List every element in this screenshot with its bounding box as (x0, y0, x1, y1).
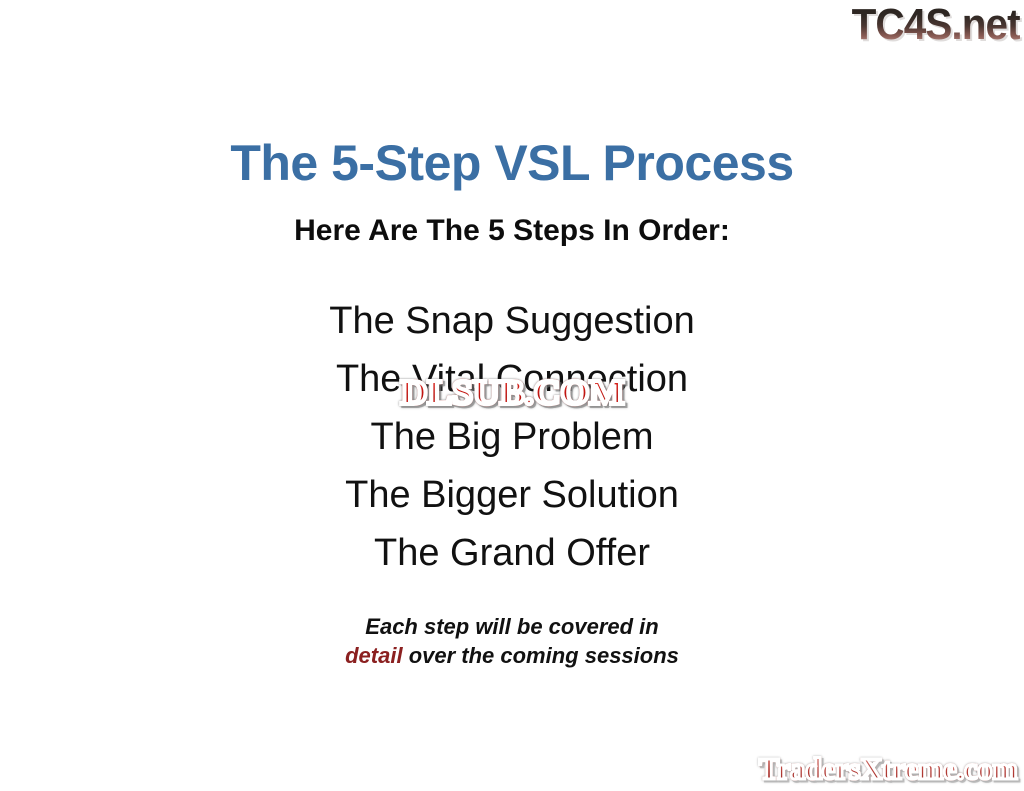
steps-list: The Snap Suggestion The Vital Connection… (0, 292, 1024, 582)
closing-note-line-2: detail over the coming sessions (0, 641, 1024, 670)
list-item: The Vital Connection (0, 350, 1024, 408)
closing-note-line-1: Each step will be covered in (0, 612, 1024, 641)
slide-canvas: TC4S.net TC4S.net The 5-Step VSL Process… (0, 0, 1024, 791)
closing-note-accent-word: detail (345, 643, 402, 668)
page-subtitle: Here Are The 5 Steps In Order: (0, 213, 1024, 249)
page-title: The 5-Step VSL Process (0, 134, 1024, 192)
list-item: The Snap Suggestion (0, 292, 1024, 350)
tc4s-brand-logo: TC4S.net (852, 2, 1020, 48)
closing-note: Each step will be covered in detail over… (0, 612, 1024, 670)
list-item: The Bigger Solution (0, 466, 1024, 524)
list-item: The Big Problem (0, 408, 1024, 466)
closing-note-line-2-rest: over the coming sessions (403, 643, 679, 668)
tradersxtreme-footer-logo: TradersXtreme.com (759, 751, 1018, 787)
list-item: The Grand Offer (0, 524, 1024, 582)
